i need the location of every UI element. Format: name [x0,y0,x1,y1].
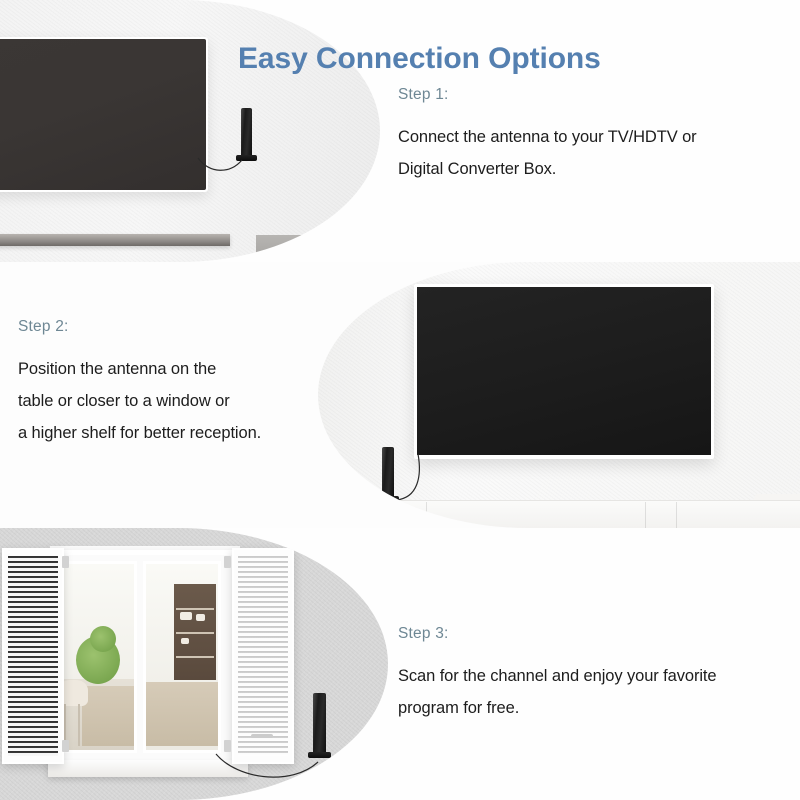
page-title: Easy Connection Options [238,42,601,76]
shelf-dish [181,638,189,644]
infographic-root: Easy Connection Options Step 1: Connect … [0,0,800,800]
shutter-hinge [62,556,69,568]
interior-counter [82,686,136,746]
interior-cabinetry [146,682,218,746]
antenna-cable [214,750,326,792]
photo-tv-above-white-console [318,262,800,528]
shelf-dish [196,614,205,621]
window-shutter-left [2,548,64,764]
shelf-divider [176,632,214,634]
window-shutter-right [232,548,294,764]
step-2-description: Position the antenna on the table or clo… [18,353,338,449]
step-1-line-2: Digital Converter Box. [398,153,778,185]
antenna-device [313,693,326,758]
step-1-text-block: Step 1: Connect the antenna to your TV/H… [398,86,778,185]
step-3-line-2: program for free. [398,692,778,724]
antenna-body [313,693,326,752]
credenza-cabinet [343,500,800,528]
step-2-text-block: Step 2: Position the antenna on the tabl… [18,318,338,449]
tv-screen [0,39,206,190]
shelf-dish [180,612,192,620]
step-1-description: Connect the antenna to your TV/HDTV or D… [398,121,778,185]
television-above-console [414,284,714,459]
window-frame [48,550,240,768]
shelf-divider [176,608,214,610]
step-3-text-block: Step 3: Scan for the channel and enjoy y… [398,625,778,724]
step-1-row: Easy Connection Options Step 1: Connect … [0,0,800,262]
step-3-label: Step 3: [398,625,778,643]
antenna-cable [196,148,256,176]
step-2-line-3: a higher shelf for better reception. [18,417,338,449]
photo-antenna-beside-window [0,528,388,800]
shelf-divider [176,656,214,658]
wall-shelf-block [256,235,334,262]
step-3-description: Scan for the channel and enjoy your favo… [398,660,778,724]
television-wall-mounted [0,37,208,192]
tv-screen [417,287,711,455]
photo-wall-mounted-tv-with-antenna [0,0,380,262]
step-2-line-1: Position the antenna on the [18,353,338,385]
credenza-drawer-seam [426,502,427,528]
interior-plant [90,626,116,652]
credenza-drawer-seam [645,502,646,528]
credenza-drawer-seam [676,502,677,528]
step-2-row: Step 2: Position the antenna on the tabl… [0,262,800,528]
step-1-label: Step 1: [398,86,778,104]
shutter-hinge [62,740,69,752]
antenna-cable [388,452,432,504]
shutter-latch [251,734,273,738]
step-3-row: Step 3: Scan for the channel and enjoy y… [0,528,800,800]
shutter-louvers [8,556,58,756]
interior-shelving-unit [174,584,216,680]
interior-stool-leg [78,704,80,746]
step-3-line-1: Scan for the channel and enjoy your favo… [398,660,778,692]
step-2-label: Step 2: [18,318,338,336]
wall-shelf [0,234,230,246]
step-2-line-2: table or closer to a window or [18,385,338,417]
shutter-louvers [238,556,288,756]
step-1-line-1: Connect the antenna to your TV/HDTV or [398,121,778,153]
window-pane-right [143,561,221,753]
shutter-hinge [224,556,231,568]
window-pane-left [59,561,137,753]
